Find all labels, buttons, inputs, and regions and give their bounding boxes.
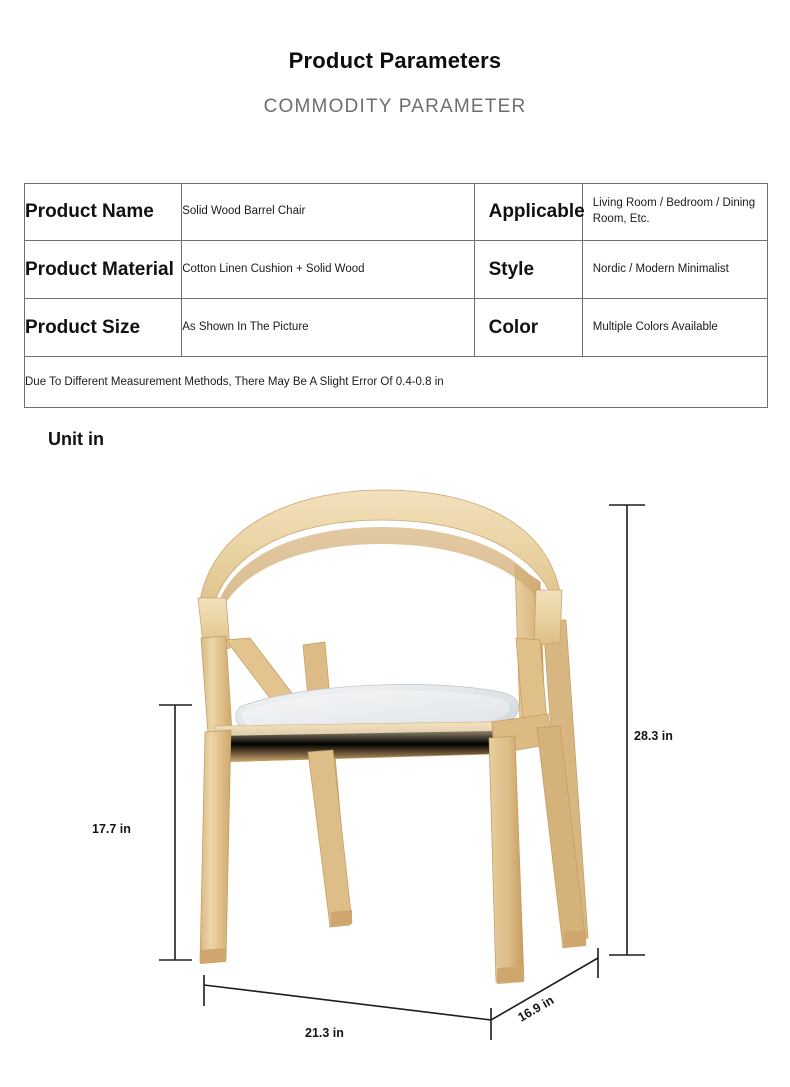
chair-arm-right-terminal xyxy=(534,590,562,646)
table-row: Product Size As Shown In The Picture Col… xyxy=(25,299,768,357)
chair-foot-front-right xyxy=(497,966,524,984)
chair-leg-front-left xyxy=(200,730,231,962)
table-row-note: Due To Different Measurement Methods, Th… xyxy=(25,357,768,408)
spec-label-style: Style xyxy=(474,241,582,299)
page-title: Product Parameters xyxy=(0,48,790,74)
spec-value-applicable: Living Room / Bedroom / Dining Room, Etc… xyxy=(582,184,767,241)
spec-value-color: Multiple Colors Available xyxy=(582,299,767,357)
spec-label-product-size: Product Size xyxy=(25,299,182,357)
spec-value-style: Nordic / Modern Minimalist xyxy=(582,241,767,299)
chair-foot-rear-left xyxy=(331,910,352,926)
spec-label-product-material: Product Material xyxy=(25,241,182,299)
spec-label-applicable-text: Applicable xyxy=(489,201,585,222)
dimension-label-height: 28.3 in xyxy=(634,729,673,743)
spec-table: Product Name Solid Wood Barrel Chair App… xyxy=(24,183,768,408)
chair-leg-rear-left-lower xyxy=(308,750,352,926)
chair-drawing xyxy=(198,490,588,984)
table-row: Product Name Solid Wood Barrel Chair App… xyxy=(25,184,768,241)
chair-leg-front-right xyxy=(489,736,524,982)
product-parameter-page: Product Parameters COMMODITY PARAMETER P… xyxy=(0,0,790,1087)
dimension-line-width xyxy=(204,985,491,1020)
spec-label-color: Color xyxy=(474,299,582,357)
table-row: Product Material Cotton Linen Cushion + … xyxy=(25,241,768,299)
chair-foot-front-left xyxy=(200,948,226,964)
dimension-label-depth: 16.9 in xyxy=(516,993,557,1025)
chair-illustration: 28.3 in 17.7 in 21.3 in 16.9 in xyxy=(0,470,790,1070)
dimension-label-width: 21.3 in xyxy=(305,1026,344,1040)
dimension-label-seat-height: 17.7 in xyxy=(92,822,131,836)
unit-caption: Unit in xyxy=(48,429,104,450)
page-subtitle: COMMODITY PARAMETER xyxy=(0,96,790,118)
spec-value-product-name: Solid Wood Barrel Chair xyxy=(182,184,474,241)
chair-foot-rear-right xyxy=(564,930,586,948)
chair-upright-left-front xyxy=(201,636,232,734)
measurement-note: Due To Different Measurement Methods, Th… xyxy=(25,357,768,408)
spec-value-product-material: Cotton Linen Cushion + Solid Wood xyxy=(182,241,474,299)
spec-label-product-name: Product Name xyxy=(25,184,182,241)
spec-label-applicable: Applicable xyxy=(474,184,582,241)
spec-value-product-size: As Shown In The Picture xyxy=(182,299,474,357)
